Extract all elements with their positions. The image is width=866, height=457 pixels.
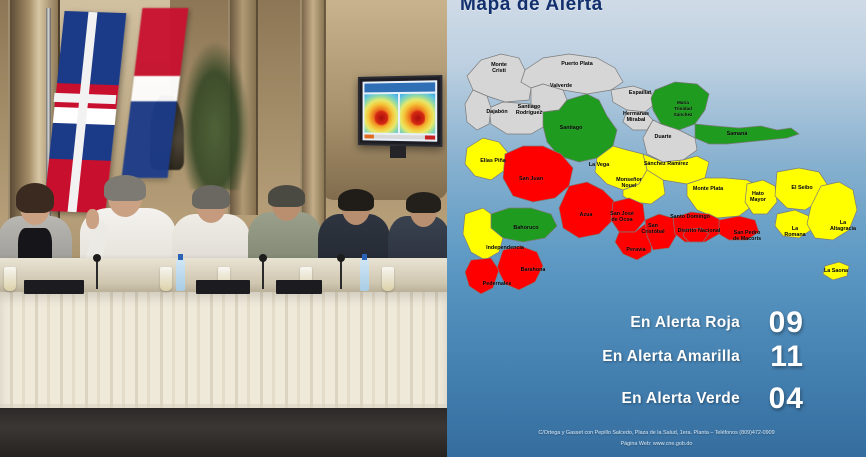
province-label: Sánchez Ramírez [644,161,689,167]
monitor-screen-footer [364,134,435,139]
dominican-republic-map: MonteCristiPuerto PlataValverdeSantiagoR… [447,38,866,318]
province-label: Azua [580,212,594,218]
province-pedernales [465,258,499,294]
water-bottle [176,259,185,291]
screenshot-root: Mapa de Alerta MonteCristiPuerto PlataVa… [0,0,866,457]
alert-count-row-green: En Alerta Verde 04 [447,382,866,416]
slide-footer: C/Ortega y Gasset con Pepillo Salcedo, P… [447,428,866,449]
map-svg: MonteCristiPuerto PlataValverdeSantiagoR… [447,38,866,318]
alert-count-value: 09 [769,306,804,340]
radar-panel-left [364,94,398,133]
slide-title: Mapa de Alerta [460,0,603,16]
province-azua [559,182,615,238]
decorative-plant [180,40,250,190]
alert-count-value: 11 [770,340,804,374]
province-label: Barahona [521,267,547,273]
alert-count-label: En Alerta Amarilla [602,348,740,366]
footer-website: Página Web: www.cne.gob.do [447,439,866,449]
laptop [196,280,250,294]
table-skirt [0,292,447,412]
alert-count-label: En Alerta Verde [621,390,740,408]
water-bottle [360,259,369,291]
radar-panel-right [400,94,435,134]
province-label: San Joséde Ocoa [610,211,634,223]
province-label: San Pedrode Macorís [733,230,761,242]
laptop [24,280,84,294]
alert-count-row-yellow: En Alerta Amarilla 11 [447,340,866,374]
alert-count-label: En Alerta Roja [630,314,740,332]
presentation-monitor [358,75,442,147]
province-label: Dajabón [486,109,507,115]
water-glass [382,267,394,291]
province-shapes [463,54,857,294]
microphone [340,259,342,289]
province-label: Espaillat [629,90,651,96]
alert-counts: En Alerta Roja 09 En Alerta Amarilla 11 … [447,306,866,416]
microphone [96,259,98,289]
alert-map-slide: Mapa de Alerta MonteCristiPuerto PlataVa… [447,0,866,457]
province-label: Puerto Plata [561,61,593,67]
province-label: Valverde [550,83,572,89]
province-label: Santo Domingo [670,214,711,220]
province-label: Samaná [727,131,749,137]
province-label: Bahoruco [513,225,539,231]
province-label: Distrito Nacional [678,228,721,234]
province-label: La Vega [589,162,610,168]
monitor-screen-header [364,82,435,92]
alert-count-value: 04 [769,382,804,416]
alert-count-row-red: En Alerta Roja 09 [447,306,866,340]
microphone [262,259,264,289]
province-label: Elías Piña [480,158,506,164]
province-label: San Juan [519,176,543,182]
province-label: Peravia [626,247,646,253]
monitor-screen [363,80,438,141]
province-label: Duarte [654,134,671,140]
province-label: El Seibo [791,185,813,191]
weather-imagery [364,94,435,134]
water-glass [160,267,172,291]
province-label: Pedernales [483,281,512,287]
floor [0,408,447,457]
press-conference-photo [0,0,447,457]
province-label: MonteCristi [491,62,507,74]
province-label: Santiago [560,125,583,131]
province-label: HermanasMirabal [623,111,649,123]
province-label: Monte Plata [693,186,724,192]
laptop [276,280,322,294]
province-label: La Saona [824,268,849,274]
footer-address: C/Ortega y Gasset con Pepillo Salcedo, P… [447,428,866,438]
monitor-stand [390,146,406,158]
province-label: SantiagoRodríguez [516,104,543,116]
province-label: Independencia [486,245,525,251]
water-glass [4,267,16,291]
